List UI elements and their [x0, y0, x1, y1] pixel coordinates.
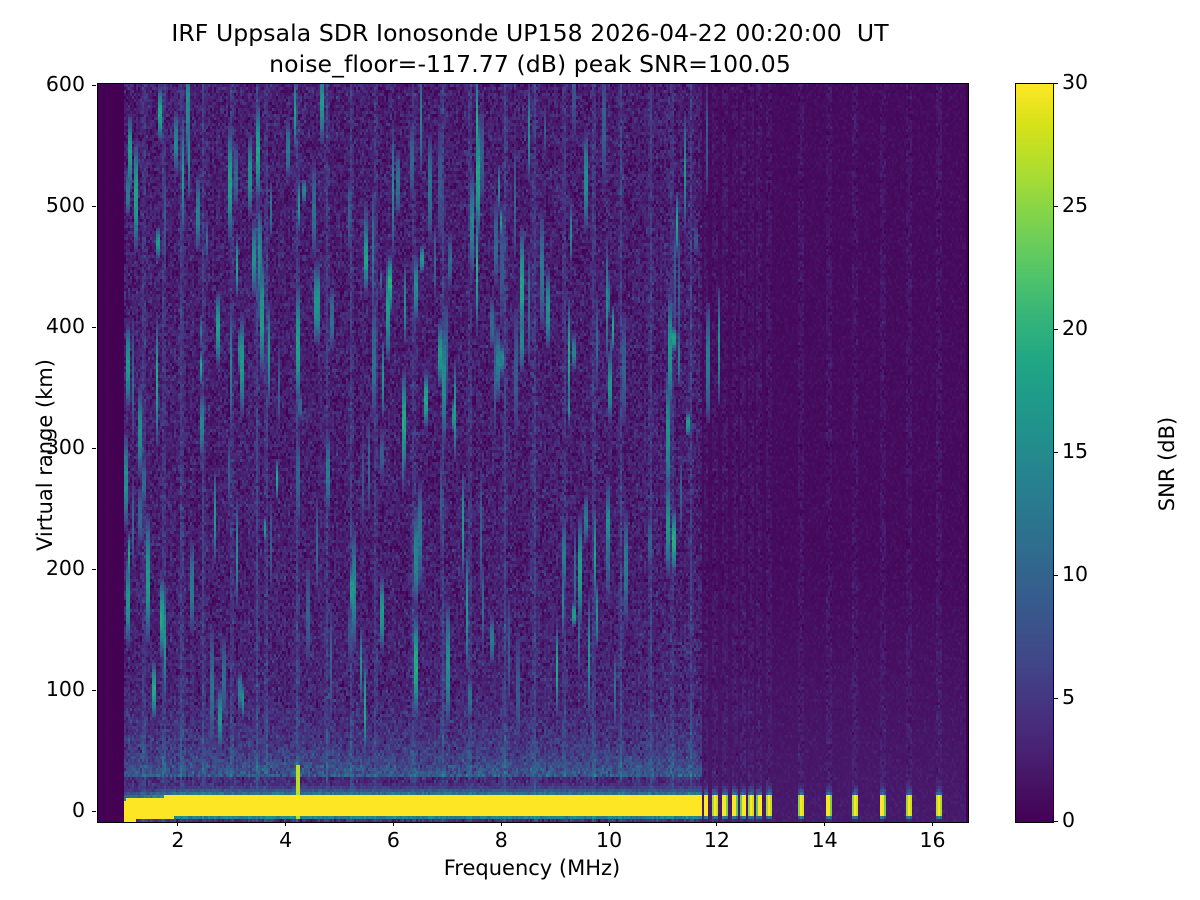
y-tick — [92, 690, 96, 691]
x-tick — [501, 822, 502, 826]
colorbar-tick-label: 15 — [1062, 439, 1088, 463]
x-axis-label: Frequency (MHz) — [97, 856, 967, 880]
colorbar-tick-label: 0 — [1062, 808, 1075, 832]
y-tick-label: 100 — [5, 677, 85, 701]
x-tick — [393, 822, 394, 826]
colorbar-tick — [1054, 329, 1058, 330]
x-tick-label: 12 — [682, 828, 752, 852]
x-tick-label: 8 — [466, 828, 536, 852]
x-tick — [177, 822, 178, 826]
colorbar-label: SNR (dB) — [1155, 299, 1179, 629]
y-tick-label: 600 — [5, 72, 85, 96]
y-tick — [92, 448, 96, 449]
ionogram-plot-area[interactable] — [97, 83, 969, 823]
colorbar-tick — [1054, 698, 1058, 699]
colorbar-tick-label: 10 — [1062, 562, 1088, 586]
colorbar-tick — [1054, 206, 1058, 207]
x-tick — [716, 822, 717, 826]
y-tick — [92, 811, 96, 812]
colorbar-tick — [1054, 452, 1058, 453]
colorbar-tick — [1054, 83, 1058, 84]
colorbar-gradient — [1016, 84, 1053, 822]
y-tick — [92, 85, 96, 86]
y-tick-label: 0 — [5, 798, 85, 822]
colorbar[interactable] — [1015, 83, 1054, 823]
x-tick-label: 14 — [790, 828, 860, 852]
x-tick-label: 4 — [251, 828, 321, 852]
y-axis-label: Virtual range (km) — [33, 255, 57, 655]
x-tick — [609, 822, 610, 826]
title-line-2: noise_floor=-117.77 (dB) peak SNR=100.05 — [0, 49, 1060, 80]
colorbar-tick-label: 20 — [1062, 316, 1088, 340]
figure-title: IRF Uppsala SDR Ionosonde UP158 2026-04-… — [0, 18, 1060, 79]
colorbar-tick-label: 25 — [1062, 193, 1088, 217]
ionogram-heatmap — [98, 84, 968, 822]
colorbar-tick — [1054, 575, 1058, 576]
ionogram-figure: IRF Uppsala SDR Ionosonde UP158 2026-04-… — [0, 0, 1200, 900]
y-tick — [92, 327, 96, 328]
title-line-1: IRF Uppsala SDR Ionosonde UP158 2026-04-… — [0, 18, 1060, 49]
y-tick — [92, 569, 96, 570]
x-tick-label: 6 — [358, 828, 428, 852]
colorbar-tick-label: 5 — [1062, 685, 1075, 709]
x-tick-label: 16 — [898, 828, 968, 852]
y-tick-label: 500 — [5, 193, 85, 217]
x-tick-label: 10 — [574, 828, 644, 852]
y-tick — [92, 206, 96, 207]
x-tick-label: 2 — [143, 828, 213, 852]
colorbar-tick-label: 30 — [1062, 70, 1088, 94]
colorbar-tick — [1054, 821, 1058, 822]
x-tick — [824, 822, 825, 826]
x-tick — [285, 822, 286, 826]
x-tick — [932, 822, 933, 826]
